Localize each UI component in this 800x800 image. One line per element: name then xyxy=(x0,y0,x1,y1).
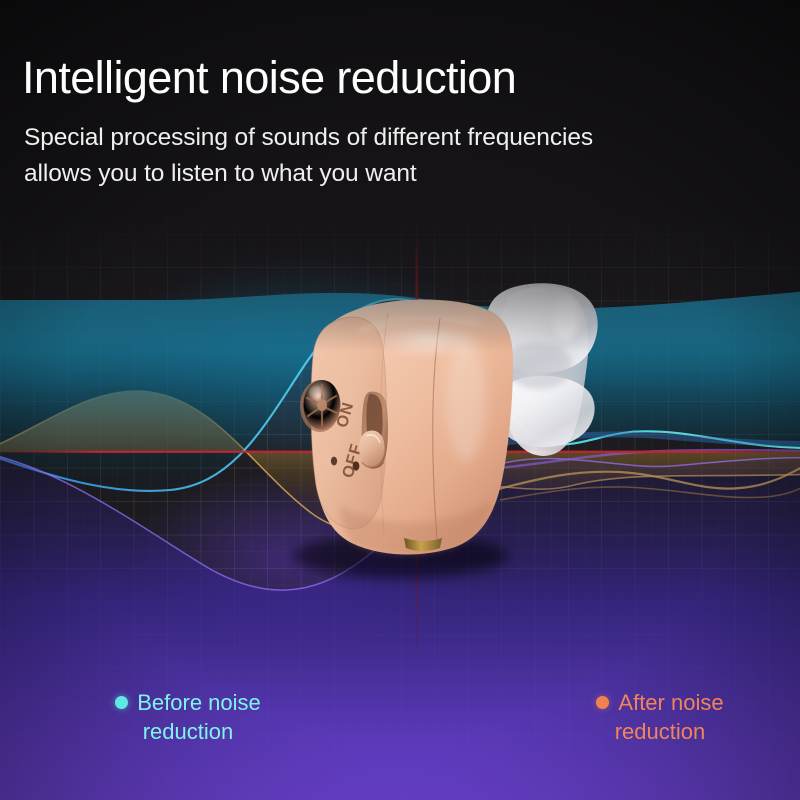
legend-after-dot-icon xyxy=(596,696,609,709)
legend-before-label-2: reduction xyxy=(68,717,308,746)
page-title: Intelligent noise reduction xyxy=(22,52,762,104)
legend-before-dot-icon xyxy=(115,696,128,709)
legend-after-noise-reduction: After noise reduction xyxy=(552,688,768,746)
legend-before-line-1: Before noise xyxy=(68,688,308,717)
legend-before-noise-reduction: Before noise reduction xyxy=(68,688,308,746)
marketing-banner: ON OFF Intelligent noise reduction Speci… xyxy=(0,0,800,800)
legend-after-line-1: After noise xyxy=(552,688,768,717)
page-subtitle: Special processing of sounds of differen… xyxy=(24,120,736,192)
header-block: Intelligent noise reduction Special proc… xyxy=(22,52,762,192)
subtitle-line-1: Special processing of sounds of differen… xyxy=(24,124,593,151)
legend-before-label-1: Before noise xyxy=(137,690,261,715)
legend-after-label-1: After noise xyxy=(618,690,723,715)
subtitle-line-2: allows you to listen to what you want xyxy=(24,160,417,187)
legend-after-label-2: reduction xyxy=(552,717,768,746)
